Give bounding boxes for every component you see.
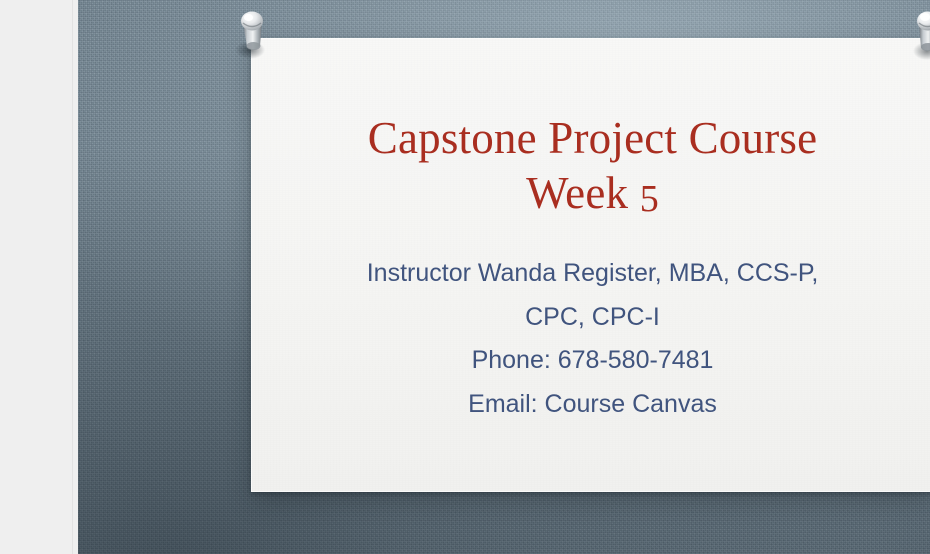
slide-title-line-2-word: Week (526, 168, 628, 218)
slide-title-line-2-number: 5 (640, 178, 659, 220)
slide-subtitle-block: Instructor Wanda Register, MBA, CCS-P, C… (298, 256, 887, 422)
instructor-line-2: CPC, CPC-I (298, 300, 887, 336)
slide-title: Capstone Project Course Week 5 (298, 111, 887, 222)
paper-card: Capstone Project Course Week 5 Instructo… (251, 38, 930, 492)
letterbox-seam (72, 0, 73, 554)
slide-title-line-1: Capstone Project Course (368, 113, 818, 163)
slide-viewer: Capstone Project Course Week 5 Instructo… (0, 0, 930, 554)
card-content: Capstone Project Course Week 5 Instructo… (252, 39, 930, 491)
email-line: Email: Course Canvas (298, 387, 887, 423)
slide-background: Capstone Project Course Week 5 Instructo… (78, 0, 930, 554)
phone-line: Phone: 678-580-7481 (298, 343, 887, 379)
instructor-line-1: Instructor Wanda Register, MBA, CCS-P, (298, 256, 887, 292)
